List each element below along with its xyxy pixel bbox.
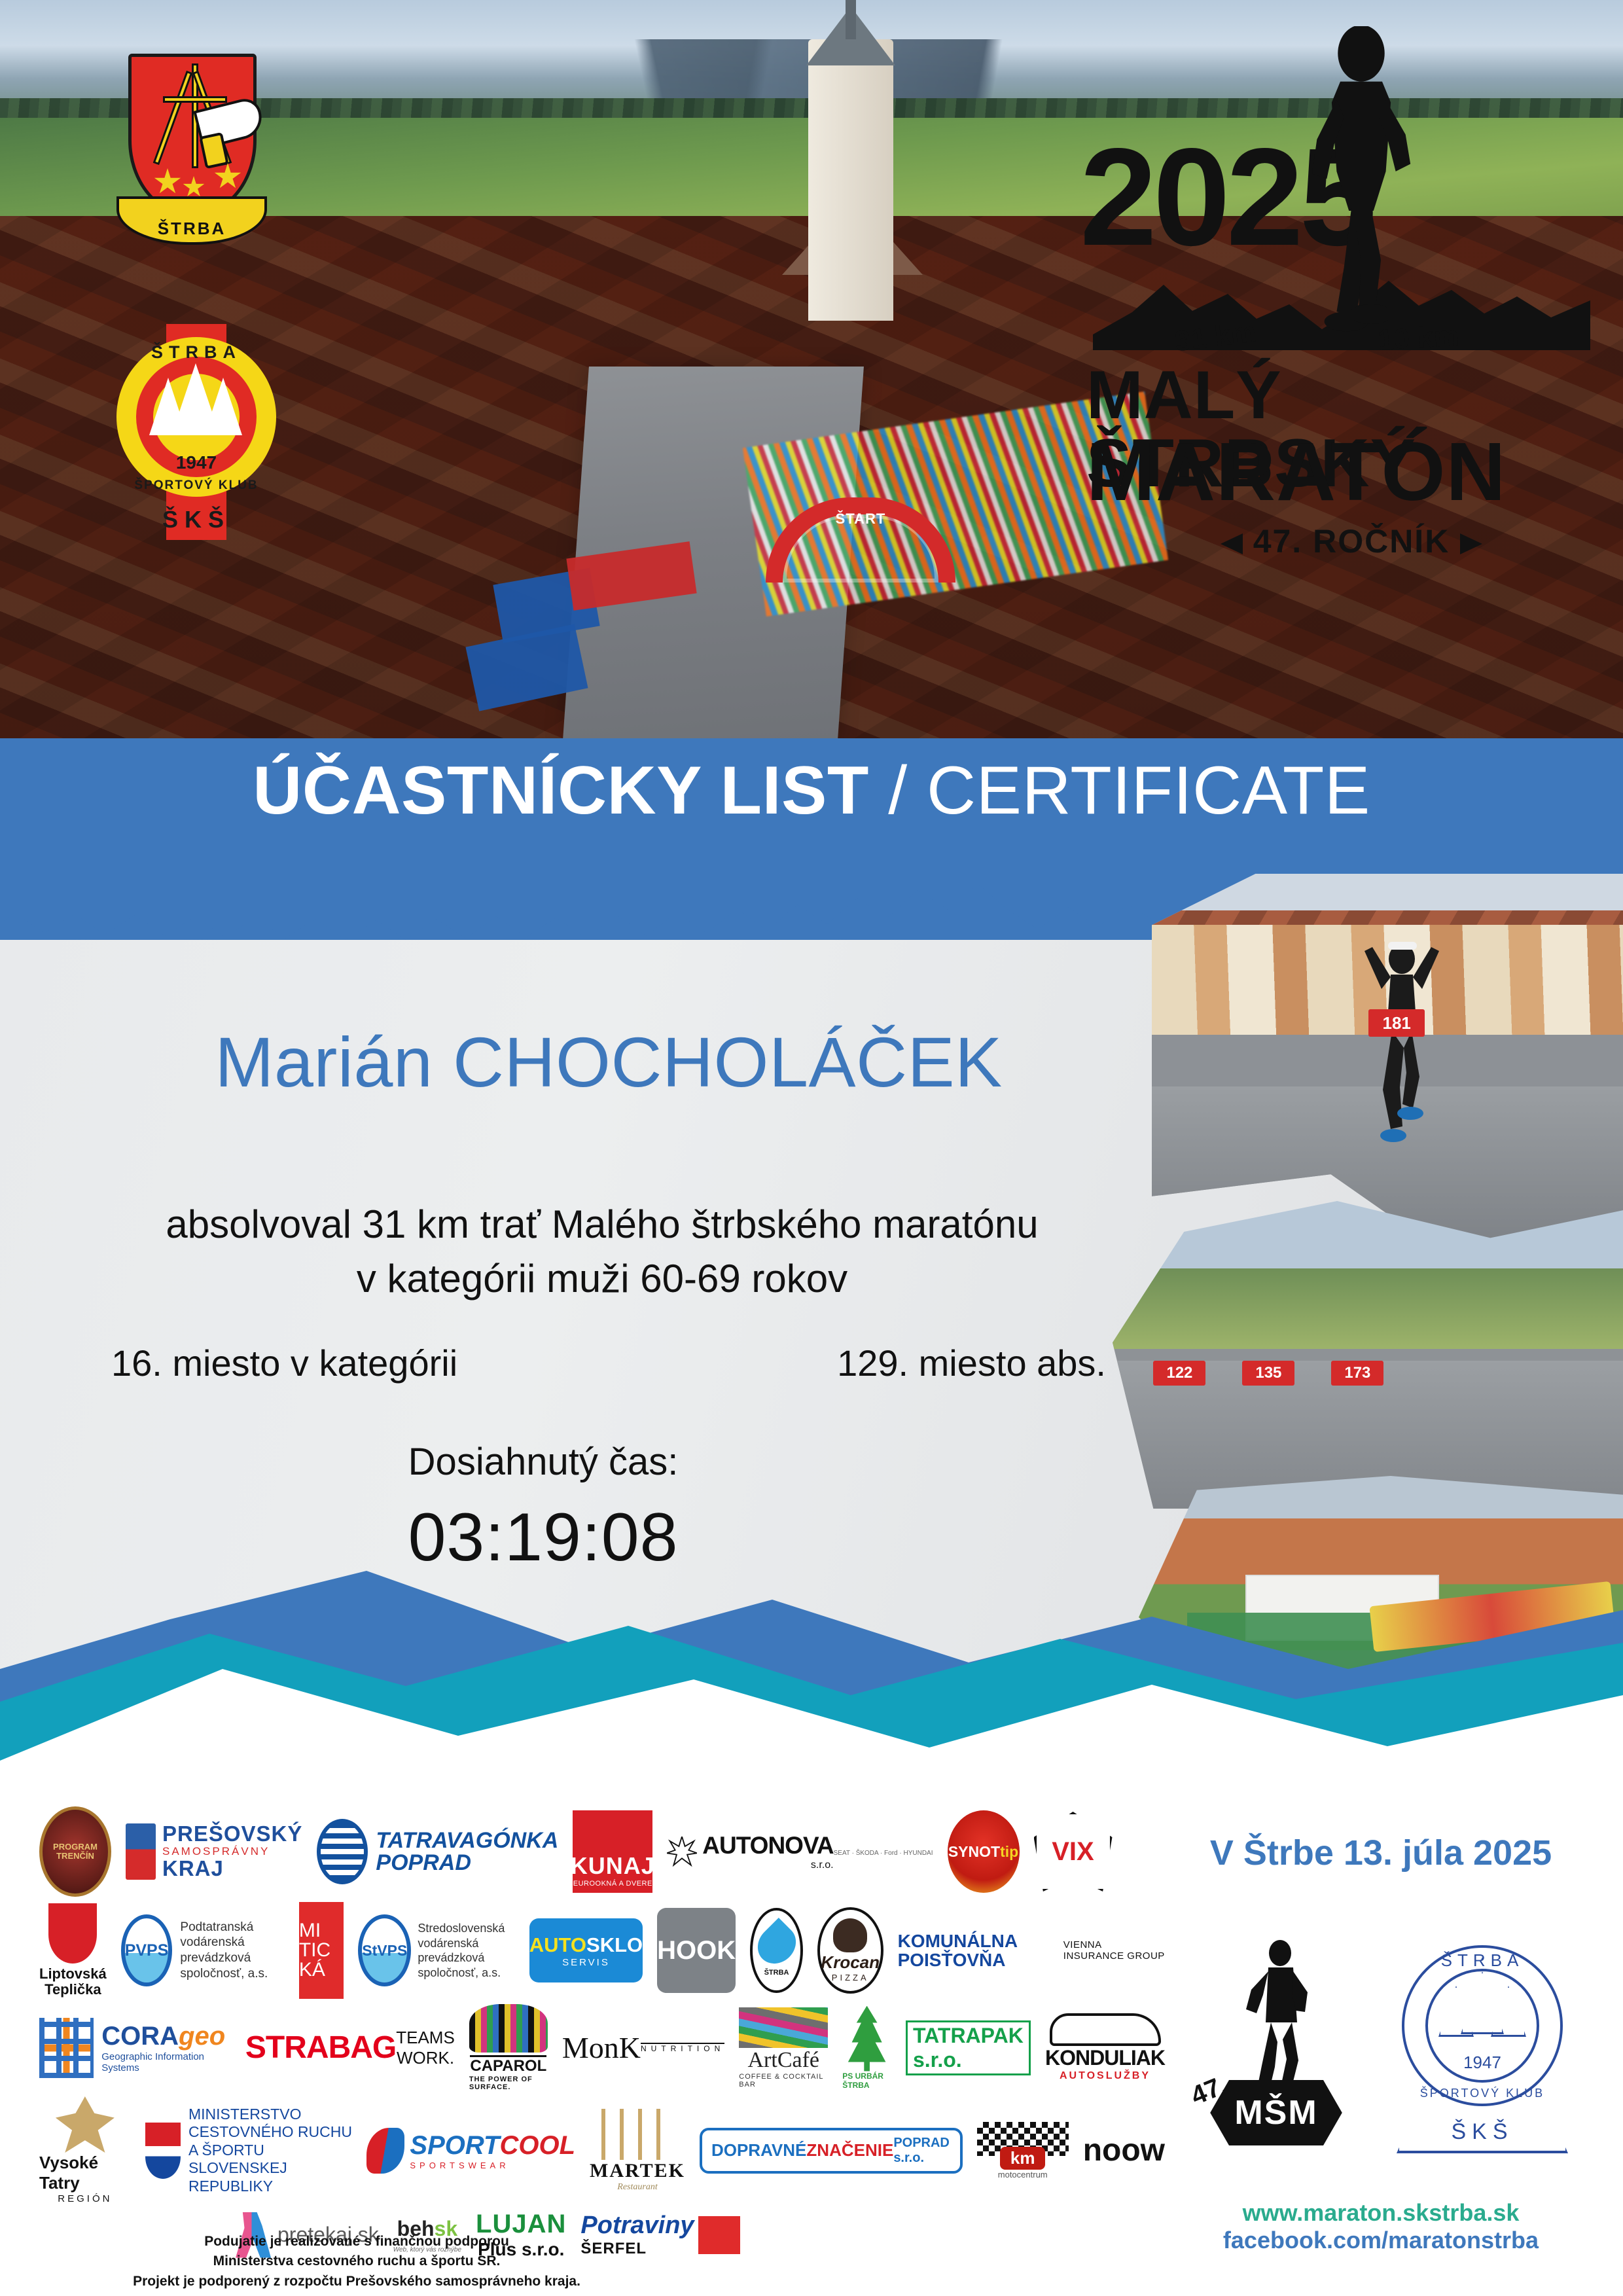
urbar-tree-icon	[844, 2006, 891, 2072]
sks-club-logo: ŠTRBA 1947 ŠPORTOVÝ KLUB ŠKŠ	[111, 324, 281, 540]
sponsor-footer: PROGRAM TRENČÍN PREŠOVSKÝ SAMOSPRÁVNY KR…	[0, 1767, 1623, 2296]
miticka-label: MI TIC KÁ	[299, 1921, 344, 1980]
vix-label: VIX	[1052, 1837, 1094, 1867]
event-edition: 47. ROČNÍK	[1086, 522, 1616, 560]
dopravne-label-2: ZNAČENIE	[806, 2140, 893, 2160]
km-label-1: km	[1000, 2147, 1046, 2170]
konduliak-label-2: AUTOSLUŽBY	[1060, 2070, 1150, 2082]
pd-strba-water-drop-icon	[750, 1918, 804, 1971]
club-logo-year: 1947	[111, 452, 281, 473]
autonova-label-2: s.r.o.	[702, 1859, 833, 1871]
sponsor-row-4: Vysoké Tatry REGIÓN MINISTERSTVO CESTOVN…	[39, 2096, 1165, 2204]
category-placement: 16. miesto v kategórii	[111, 1342, 457, 1384]
konduliak-label-1: KONDULIAK	[1045, 2046, 1165, 2070]
event-wordmark: 2025 31 km 10 km MALÝ ŠTRBSKÝ MARATÓN 47…	[1073, 20, 1616, 596]
strba-coat-of-arms: ŠTRBA	[116, 54, 267, 250]
sponsor-martek[interactable]: MARTEK Restaurant	[590, 2109, 685, 2193]
page-title: ÚČASTNÍCKY LIST / CERTIFICATE	[0, 754, 1623, 827]
time-label: Dosiahnutý čas:	[79, 1440, 1008, 1484]
sponsor-komunalna-poistovna[interactable]: KOMUNÁLNA POISŤOVŇA VIENNA INSURANCE GRO…	[898, 1931, 1165, 1970]
sponsor-autonova[interactable]: AUTONOVA s.r.o. SEAT · ŠKODA · Ford · HY…	[667, 1832, 933, 1871]
autonova-star-icon	[667, 1837, 697, 1867]
kunaj-label-2: EUROOKNÁ A DVERE	[573, 1880, 652, 1888]
sponsor-liptovska-teplicka[interactable]: Liptovská Teplička	[39, 1903, 107, 1998]
liptovska-crest-icon	[48, 1903, 97, 1964]
tatravagonka-emblem-icon	[317, 1819, 368, 1884]
facebook-link[interactable]: facebook.com/maratonstrba	[1158, 2227, 1603, 2254]
star-3-icon	[214, 163, 241, 190]
mountain-divider	[0, 1571, 1623, 1787]
sponsor-caparol[interactable]: CAPAROL THE POWER OF SURFACE.	[469, 2004, 548, 2091]
msm-runner-icon	[1237, 1937, 1322, 2101]
shield-body	[128, 54, 257, 217]
star-2-icon	[183, 176, 205, 198]
event-title-line2: MARATÓN	[1086, 431, 1616, 513]
caparol-elephant-icon	[469, 2004, 548, 2053]
coat-of-arms-ribbon: ŠTRBA	[116, 196, 267, 245]
coat-of-arms-label: ŠTRBA	[158, 219, 226, 242]
bib-number-122: 122	[1153, 1361, 1205, 1386]
club-logo-abbr: ŠKŠ	[111, 506, 281, 533]
description-line-1: absolvoval 31 km trať Malého štrbského m…	[79, 1198, 1126, 1252]
slovak-crest-icon	[145, 2123, 181, 2179]
pvps-label-2: prevádzková spoločnosť, a.s.	[180, 1950, 284, 1982]
sponsor-krocan-pizza[interactable]: Krocan PIZZA	[817, 1907, 883, 1994]
dopravne-label-3: POPRAD s.r.o.	[893, 2136, 950, 2166]
footer-right-block: V Štrbe 13. júla 2025 47. MŠM	[1171, 1806, 1590, 2265]
psk-flag-icon	[126, 1823, 156, 1880]
potraviny-square-icon	[698, 2216, 740, 2254]
monk-label-1: MonK	[562, 2030, 641, 2065]
ministerstvo-label-4: SLOVENSKEJ REPUBLIKY	[188, 2159, 352, 2195]
sponsor-stvps[interactable]: StVPS Stredoslovenská vodárenská prevádz…	[358, 1914, 514, 1986]
sponsor-monk-nutrition[interactable]: MonK NUTRITION	[562, 2030, 724, 2065]
issue-date: V Štrbe 13. júla 2025	[1171, 1833, 1590, 1873]
title-slovak: ÚČASTNÍCKY LIST	[253, 753, 869, 829]
psk-label-3: KRAJ	[162, 1857, 302, 1880]
artcafe-swatch-icon	[739, 2007, 828, 2048]
caparol-label-2: THE POWER OF SURFACE.	[469, 2075, 548, 2091]
photo2-bib-group: 122 135 173	[1153, 1361, 1383, 1386]
stamp-year: 1947	[1387, 2053, 1577, 2073]
martek-cutlery-icon	[601, 2109, 673, 2160]
sponsor-tatravagonka[interactable]: TATRAVAGÓNKA POPRAD	[317, 1819, 558, 1884]
tatrapak-label: TATRAPAK s.r.o.	[906, 2020, 1031, 2075]
corageo-label-2: Geographic Information Systems	[101, 2051, 231, 2073]
sponsor-row-2: Liptovská Teplička PVPS Podtatranská vod…	[39, 1902, 1165, 1999]
runner-silhouette-icon	[1299, 26, 1423, 334]
km-label-2: motocentrum	[998, 2170, 1048, 2179]
participant-name: Marián CHOCHOLÁČEK	[98, 1021, 1119, 1103]
psk-label-1: PREŠOVSKÝ	[162, 1823, 302, 1846]
bib-number-181: 181	[1368, 1009, 1425, 1037]
corageo-grid-icon	[39, 2018, 94, 2078]
title-separator: /	[869, 753, 927, 829]
title-english: CERTIFICATE	[927, 753, 1370, 829]
stamp-top-text: ŠTRBA	[1387, 1950, 1577, 1971]
corageo-label-1b: geo	[179, 2022, 225, 2051]
arrow-right-icon	[1460, 533, 1482, 554]
msm-logo: 47. MŠM	[1191, 1937, 1361, 2153]
pvps-emblem-icon: PVPS	[121, 1914, 173, 1986]
stvps-emblem-icon: StVPS	[358, 1914, 411, 1986]
sponsor-presovsky-kraj[interactable]: PREŠOVSKÝ SAMOSPRÁVNY KRAJ	[126, 1823, 302, 1880]
sportcool-label-1a: SPORT	[410, 2131, 499, 2160]
sponsor-strabag[interactable]: STRABAG TEAMS WORK.	[245, 2028, 455, 2068]
runners-on-course-photo: 122 135 173	[1113, 1201, 1623, 1509]
contact-links: www.maraton.skstrba.sk facebook.com/mara…	[1158, 2199, 1603, 2254]
program-trencin-label-1: PROGRAM	[53, 1842, 98, 1852]
sponsor-pvps[interactable]: PVPS Podtatranská vodárenská prevádzková…	[121, 1914, 285, 1986]
achievement-description: absolvoval 31 km trať Malého štrbského m…	[79, 1198, 1126, 1306]
martek-label-1: MARTEK	[590, 2160, 685, 2182]
pd-strba-label: ŠTRBA	[764, 1969, 789, 1977]
vysoke-tatry-label-2: REGIÓN	[58, 2193, 112, 2204]
dopravne-label-1: DOPRAVNÉ	[711, 2140, 806, 2160]
ministerstvo-label-1: MINISTERSTVO	[188, 2106, 352, 2124]
synottip-label-1: SYNOT	[948, 1843, 1000, 1861]
celebrating-runner-icon	[1359, 933, 1444, 1149]
hook-label: HOOK	[657, 1936, 736, 1965]
absolute-placement: 129. miesto abs.	[837, 1342, 1106, 1384]
artcafe-label-2: COFFEE & COCKTAIL BAR	[739, 2073, 828, 2089]
sponsor-synottip[interactable]: SYNOTtip	[948, 1810, 1020, 1893]
sponsor-hook[interactable]: HOOK	[657, 1908, 736, 1993]
komunalna-label-1: KOMUNÁLNA POISŤOVŇA	[898, 1931, 1063, 1970]
sponsor-row-1: PROGRAM TRENČÍN PREŠOVSKÝ SAMOSPRÁVNY KR…	[39, 1806, 1165, 1897]
monk-label-2: NUTRITION	[641, 2043, 724, 2053]
sponsor-dopravne-znacenie[interactable]: DOPRAVNÉ ZNAČENIE POPRAD s.r.o.	[700, 2128, 963, 2174]
disclaimer-line-3: Projekt je podporený z rozpočtu Prešovsk…	[46, 2272, 668, 2291]
sponsor-vysoke-tatry-region[interactable]: Vysoké Tatry REGIÓN	[39, 2096, 131, 2204]
sponsor-program-trencin[interactable]: PROGRAM TRENČÍN	[39, 1806, 111, 1897]
bib-number-173: 173	[1331, 1361, 1383, 1386]
arrow-left-icon	[1221, 533, 1243, 554]
finishing-runner-photo: 181	[1152, 874, 1623, 1240]
krocan-label-1: Krocan	[821, 1952, 880, 1973]
event-edition-label: 47. ROČNÍK	[1253, 523, 1450, 560]
sponsor-autosklo-servis[interactable]: AUTOSKLO SERVIS	[529, 1918, 643, 1982]
autonova-brands: SEAT · ŠKODA · Ford · HYUNDAI	[834, 1850, 933, 1857]
church-spire	[846, 0, 856, 39]
vysoke-tatry-label-1: Vysoké Tatry	[39, 2153, 131, 2193]
sponsor-row-3: CORAgeo Geographic Information Systems S…	[39, 2004, 1165, 2091]
star-1-icon	[154, 168, 181, 196]
stvps-abbr: StVPS	[362, 1942, 407, 1960]
tatravagonka-label-2: POPRAD	[376, 1852, 558, 1874]
sks-stamp: ŠTRBA 1947 ŠPORTOVÝ KLUB ŠKŠ	[1387, 1931, 1577, 2160]
website-link[interactable]: www.maraton.skstrba.sk	[1158, 2199, 1603, 2227]
sponsor-kunaj[interactable]: KUNAJ EUROOKNÁ A DVERE	[573, 1810, 652, 1893]
krocan-turkey-icon	[833, 1918, 867, 1952]
sponsor-pd-strba[interactable]: ŠTRBA	[750, 1908, 803, 1993]
club-logo-top-text: ŠTRBA	[111, 342, 281, 363]
sponsor-ps-urbar-strba[interactable]: PS URBÁR ŠTRBA	[842, 2006, 891, 2090]
sponsor-tatrapak[interactable]: TATRAPAK s.r.o.	[906, 2020, 1031, 2075]
sponsor-corageo[interactable]: CORAgeo Geographic Information Systems	[39, 2018, 231, 2078]
synottip-label-2: tip	[1000, 1843, 1018, 1861]
sportcool-label-2: SPORTSWEAR	[410, 2161, 575, 2170]
sponsor-noow[interactable]: noow	[1083, 2132, 1165, 2168]
autosklo-label-1a: AUTO	[529, 1933, 586, 1956]
kunaj-label-1: KUNAJ	[571, 1852, 655, 1880]
description-line-2: v kategórii muži 60-69 rokov	[79, 1252, 1126, 1306]
certificate-page: ŠTART ŠTRBA ŠTRBA 1947 ŠPORTO	[0, 0, 1623, 2296]
pvps-abbr: PVPS	[125, 1941, 169, 1960]
title-banner: ÚČASTNÍCKY LIST / CERTIFICATE	[0, 738, 1623, 861]
liptovska-label-2: Teplička	[39, 1982, 107, 1998]
cross-staff-1	[153, 71, 193, 165]
cross-arm-horizontal	[163, 96, 227, 103]
finish-time: 03:19:08	[79, 1499, 1008, 1577]
photo2-hillside	[1113, 1268, 1623, 1348]
placement-row: 16. miesto v kategórii 129. miesto abs.	[79, 1342, 1139, 1384]
club-logo-bottom-text: ŠPORTOVÝ KLUB	[111, 478, 281, 493]
urbar-label: PS URBÁR ŠTRBA	[842, 2072, 891, 2090]
sponsor-ministerstvo[interactable]: MINISTERSTVO CESTOVNÉHO RUCHU A ŠPORTU S…	[145, 2106, 353, 2196]
distance-right-label: 10 km	[1377, 320, 1460, 357]
corageo-label-1a: CORA	[101, 2022, 179, 2051]
autosklo-label-1b: SKLO	[586, 1933, 643, 1956]
sportcool-label-1b: COOL	[499, 2131, 575, 2160]
sponsor-artcafe[interactable]: ArtCafé COFFEE & COCKTAIL BAR	[739, 2007, 828, 2089]
disclaimer-line-2: Ministerstva cestovného ruchu a športu S…	[46, 2251, 668, 2271]
komunalna-label-2: VIENNA INSURANCE GROUP	[1063, 1939, 1165, 1962]
pvps-label-1: Podtatranská vodárenská	[180, 1920, 284, 1951]
liptovska-label-1: Liptovská	[39, 1966, 107, 1982]
strabag-label-1: STRABAG	[245, 2030, 396, 2066]
stamp-abbr: ŠKŠ	[1387, 2119, 1577, 2145]
stvps-label-2: prevádzková spoločnosť, a.s.	[418, 1950, 514, 1980]
church-tower	[808, 39, 893, 321]
stvps-label-1: Stredoslovenská vodárenská	[418, 1921, 514, 1950]
sponsor-logos-area: PROGRAM TRENČÍN PREŠOVSKÝ SAMOSPRÁVNY KR…	[39, 1806, 1165, 2225]
ministerstvo-label-2: CESTOVNÉHO RUCHU	[188, 2123, 352, 2142]
tatravagonka-label-1: TATRAVAGÓNKA	[376, 1829, 558, 1852]
sponsor-sportcool[interactable]: SPORTCOOL SPORTSWEAR	[366, 2128, 575, 2174]
program-trencin-label-2: TRENČÍN	[56, 1852, 94, 1861]
sponsor-vix[interactable]: VIX	[1034, 1812, 1113, 1892]
krocan-label-2: PIZZA	[832, 1973, 869, 1982]
sponsor-miticka[interactable]: MI TIC KÁ	[299, 1902, 344, 1999]
bib-number-135: 135	[1242, 1361, 1294, 1386]
sponsor-konduliak[interactable]: KONDULIAK AUTOSLUŽBY	[1045, 2013, 1165, 2082]
stamp-bottom-text: ŠPORTOVÝ KLUB	[1387, 2087, 1577, 2100]
strabag-label-2: TEAMS WORK.	[396, 2028, 455, 2068]
funding-disclaimer: Podujatie je realizované s finančnou pod…	[46, 2232, 668, 2291]
noow-label: noow	[1083, 2132, 1165, 2168]
artcafe-label-1: ArtCafé	[748, 2048, 820, 2073]
caparol-label-1: CAPAROL	[470, 2055, 546, 2075]
sportcool-swoosh-icon	[366, 2128, 404, 2174]
ministerstvo-label-3: A ŠPORTU	[188, 2142, 352, 2160]
autonova-label-1: AUTONOVA	[702, 1832, 833, 1859]
sponsor-km-motocentrum[interactable]: km motocentrum	[977, 2122, 1069, 2179]
vysoke-tatry-chamois-icon	[56, 2096, 115, 2153]
martek-label-2: Restaurant	[617, 2182, 657, 2193]
autosklo-label-2: SERVIS	[562, 1957, 610, 1968]
disclaimer-line-1: Podujatie je realizované s finančnou pod…	[46, 2232, 668, 2251]
konduliak-car-icon	[1050, 2013, 1161, 2046]
